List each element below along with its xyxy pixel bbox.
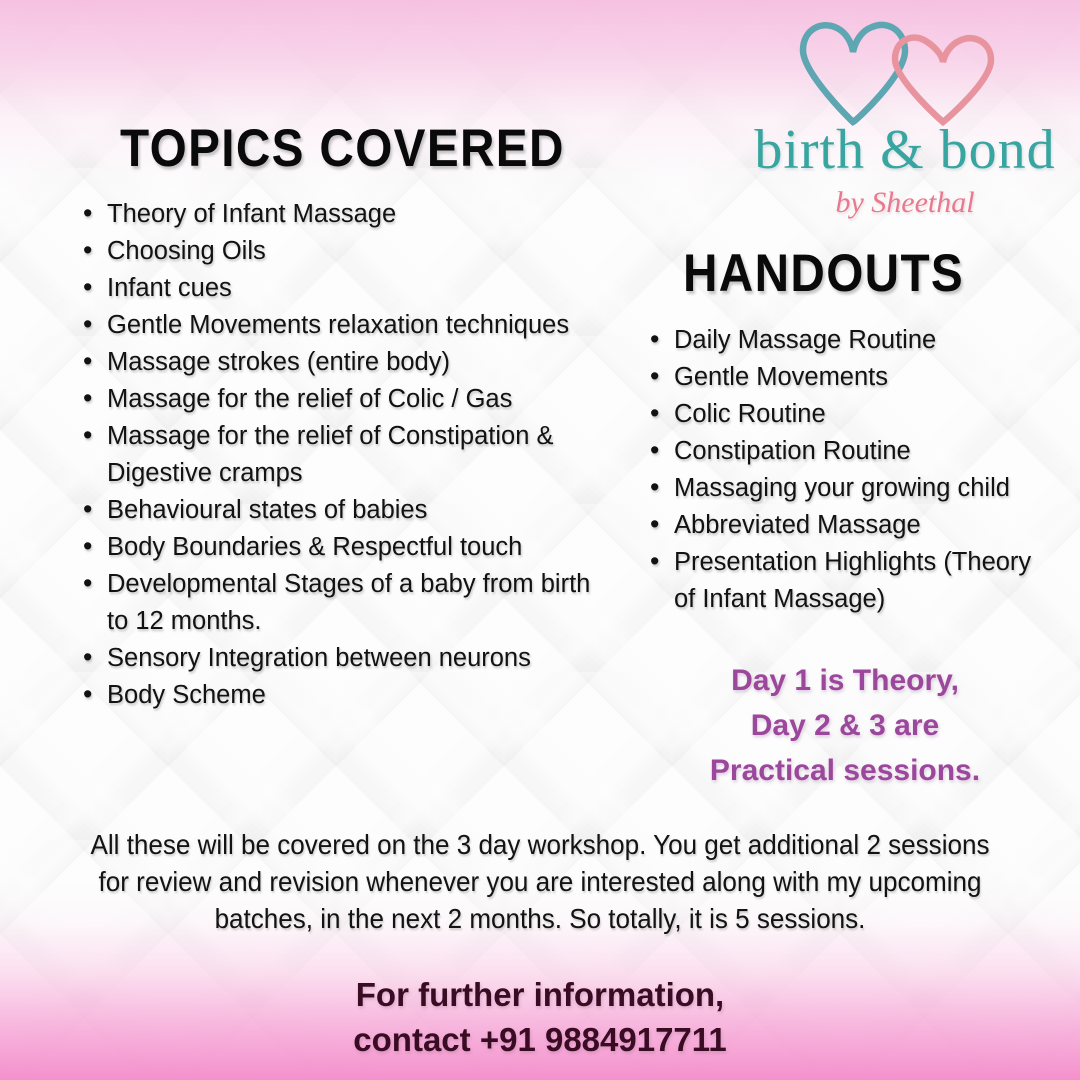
poster-content: birth & bond by Sheethal TOPICS COVERED … — [0, 0, 1080, 1080]
callout-line: Day 1 is Theory, — [640, 658, 1050, 703]
list-item: Abbreviated Massage — [648, 507, 1058, 544]
list-item: Developmental Stages of a baby from birt… — [81, 566, 601, 640]
contact-phone[interactable]: contact +91 9884917711 — [40, 1017, 1040, 1062]
list-item: Body Boundaries & Respectful touch — [81, 529, 601, 566]
list-item: Body Scheme — [81, 677, 601, 714]
list-item: Behavioural states of babies — [81, 492, 601, 529]
brand-name: birth & bond — [740, 122, 1070, 178]
list-item: Constipation Routine — [648, 433, 1058, 470]
brand-logo: birth & bond by Sheethal — [740, 18, 1070, 228]
schedule-callout: Day 1 is Theory, Day 2 & 3 are Practical… — [640, 658, 1050, 793]
list-item: Massage strokes (entire body) — [81, 344, 601, 381]
list-item: Infant cues — [81, 270, 601, 307]
list-item: Massage for the relief of Constipation &… — [81, 418, 601, 492]
list-item: Gentle Movements — [648, 359, 1058, 396]
poster-canvas: birth & bond by Sheethal TOPICS COVERED … — [0, 0, 1080, 1080]
callout-line: Day 2 & 3 are — [640, 703, 1050, 748]
handouts-list: Daily Massage Routine Gentle Movements C… — [648, 322, 1058, 618]
callout-line: Practical sessions. — [640, 748, 1050, 793]
topics-covered-list: Theory of Infant Massage Choosing Oils I… — [81, 196, 601, 714]
list-item: Colic Routine — [648, 396, 1058, 433]
list-item: Sensory Integration between neurons — [81, 640, 601, 677]
contact-block: For further information, contact +91 988… — [40, 972, 1040, 1062]
brand-byline: by Sheethal — [740, 188, 1070, 218]
topics-covered-heading: TOPICS COVERED — [120, 122, 565, 175]
workshop-description: All these will be covered on the 3 day w… — [86, 826, 994, 937]
list-item: Theory of Infant Massage — [81, 196, 601, 233]
list-item: Massaging your growing child — [648, 470, 1058, 507]
contact-prompt: For further information, — [40, 972, 1040, 1017]
list-item: Choosing Oils — [81, 233, 601, 270]
handouts-heading: HANDOUTS — [683, 247, 964, 300]
list-item: Gentle Movements relaxation techniques — [81, 307, 601, 344]
list-item: Daily Massage Routine — [648, 322, 1058, 359]
two-interlocking-hearts-icon — [740, 18, 1070, 126]
list-item: Presentation Highlights (Theory of Infan… — [648, 544, 1058, 618]
list-item: Massage for the relief of Colic / Gas — [81, 381, 601, 418]
